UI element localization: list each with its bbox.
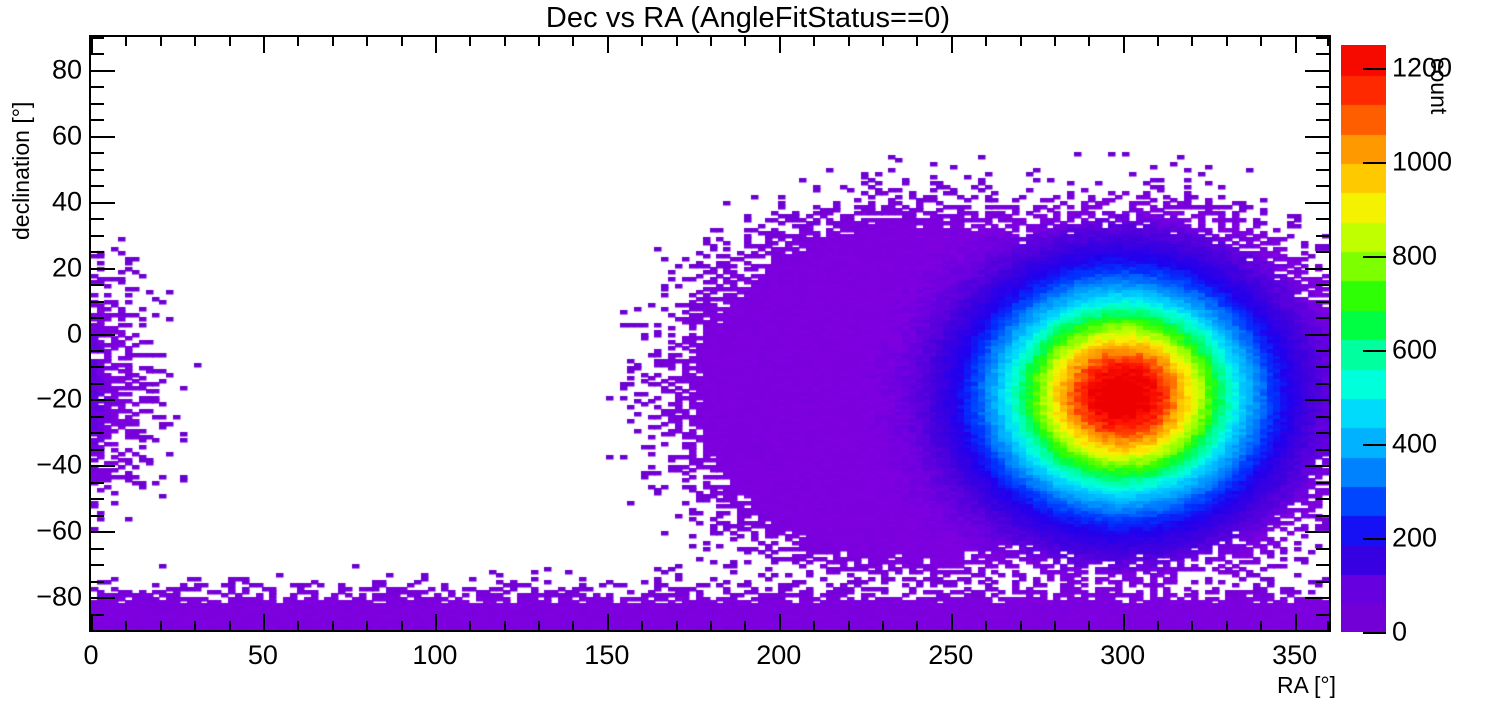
color-bar [1341,45,1386,632]
color-bar-tick-label: 1200 [1392,53,1452,84]
x-tick-label: 300 [1100,640,1145,671]
color-bar-tick [1363,350,1386,352]
color-bar-tick [1363,68,1386,70]
color-bar-tick [1363,444,1386,446]
x-tick-label: 350 [1272,640,1317,671]
plot-frame [89,35,1331,632]
color-bar-gradient [1341,45,1386,632]
x-axis-title: RA [°] [1277,672,1336,699]
color-bar-tick-label: 400 [1392,429,1437,460]
heatmap-canvas [91,37,1329,630]
y-tick-label: 60 [12,120,82,151]
y-tick-label: −80 [12,582,82,613]
page-title: Dec vs RA (AngleFitStatus==0) [0,2,1496,35]
y-tick-label: 80 [12,54,82,85]
y-tick-label: 0 [12,318,82,349]
y-tick-label: −60 [12,516,82,547]
x-tick-label: 250 [928,640,973,671]
x-tick-label: 100 [412,640,457,671]
color-bar-tick-label: 1000 [1392,147,1452,178]
color-bar-tick-label: 200 [1392,523,1437,554]
x-tick-label: 50 [248,640,278,671]
x-tick-label: 0 [83,640,98,671]
color-bar-tick [1363,162,1386,164]
y-tick-label: −40 [12,450,82,481]
color-bar-tick [1363,632,1386,634]
color-bar-tick-label: 600 [1392,335,1437,366]
x-tick-label: 150 [584,640,629,671]
plot-root: Dec vs RA (AngleFitStatus==0) RA [°] dec… [0,0,1496,722]
y-tick-label: −20 [12,384,82,415]
color-bar-tick [1363,538,1386,540]
y-tick-label: 20 [12,252,82,283]
y-tick-label: 40 [12,186,82,217]
color-bar-tick-label: 0 [1392,617,1407,648]
color-bar-tick [1363,256,1386,258]
color-bar-tick-label: 800 [1392,241,1437,272]
x-tick-label: 200 [756,640,801,671]
